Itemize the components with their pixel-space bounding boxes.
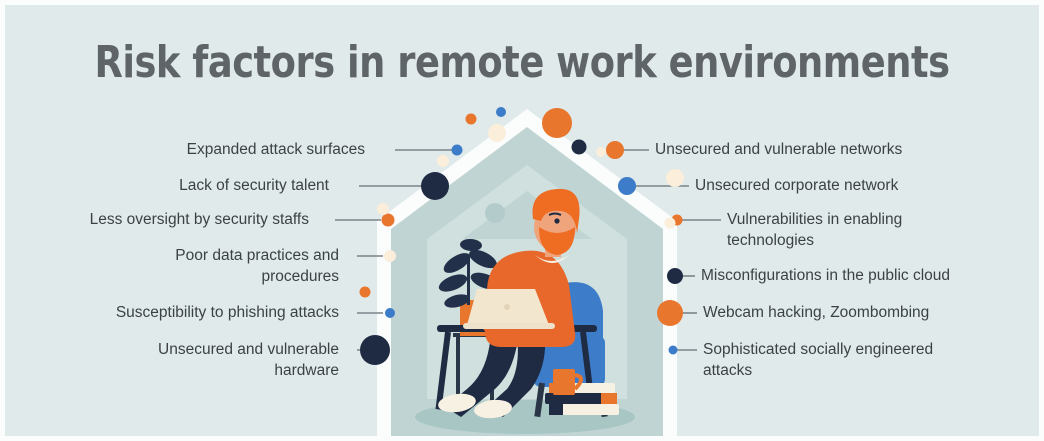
label-less-oversight-by-security-staffs: Less oversight by security staffs (0, 210, 309, 231)
label-poor-data-practices-and-procedures: Poor data practices and procedures (9, 246, 339, 288)
book-2-spine (601, 393, 617, 404)
decorative-dot (488, 124, 506, 142)
decorative-dot (596, 147, 606, 157)
label-webcam-hacking-zoombombing: Webcam hacking, Zoombombing (703, 303, 1044, 324)
dot-corporate-network (618, 177, 636, 195)
label-susceptibility-to-phishing-attacks: Susceptibility to phishing attacks (9, 303, 339, 324)
laptop-logo-icon (504, 304, 510, 310)
dot-less-oversight (382, 214, 395, 227)
decorative-dot (666, 169, 684, 187)
person-eye (554, 218, 559, 223)
decorative-dot (496, 107, 506, 117)
dot-lack-of-security-talent (421, 172, 449, 200)
decorative-dot (377, 203, 389, 215)
decorative-dot (572, 140, 587, 155)
label-lack-of-security-talent: Lack of security talent (0, 176, 329, 197)
laptop-base (463, 323, 555, 329)
dot-misconfigurations (667, 268, 683, 284)
decorative-dot (542, 108, 572, 138)
dot-unsecured-hardware (360, 335, 390, 365)
label-unsecured-corporate-network: Unsecured corporate network (695, 176, 1044, 197)
dot-unsecured-networks (606, 141, 624, 159)
dot-webcam-hacking (657, 300, 683, 326)
decorative-dot (665, 218, 676, 229)
label-misconfigurations-in-the-public-cloud: Misconfigurations in the public cloud (701, 266, 1044, 287)
dot-expanded-attack-surfaces (452, 145, 463, 156)
label-sophisticated-socially-engineered-attacks: Sophisticated socially engineered attack… (703, 340, 1044, 382)
mug (553, 369, 575, 395)
infographic-canvas: Risk factors in remote work environments (0, 0, 1044, 441)
decorative-dot (360, 287, 371, 298)
dot-phishing (385, 308, 395, 318)
label-vulnerabilities-in-enabling-technologies: Vulnerabilities in enabling technologies (727, 210, 1044, 252)
decorative-dot (437, 155, 449, 167)
label-expanded-attack-surfaces: Expanded attack surfaces (35, 140, 365, 161)
decorative-dot (466, 114, 477, 125)
label-unsecured-and-vulnerable-hardware: Unsecured and vulnerable hardware (9, 340, 339, 382)
dot-poor-data-practices (384, 250, 396, 262)
label-unsecured-and-vulnerable-networks: Unsecured and vulnerable networks (655, 140, 1044, 161)
book-3-spine (549, 404, 563, 415)
dot-social-engineering (669, 346, 678, 355)
wall-lamp-icon (485, 203, 505, 223)
